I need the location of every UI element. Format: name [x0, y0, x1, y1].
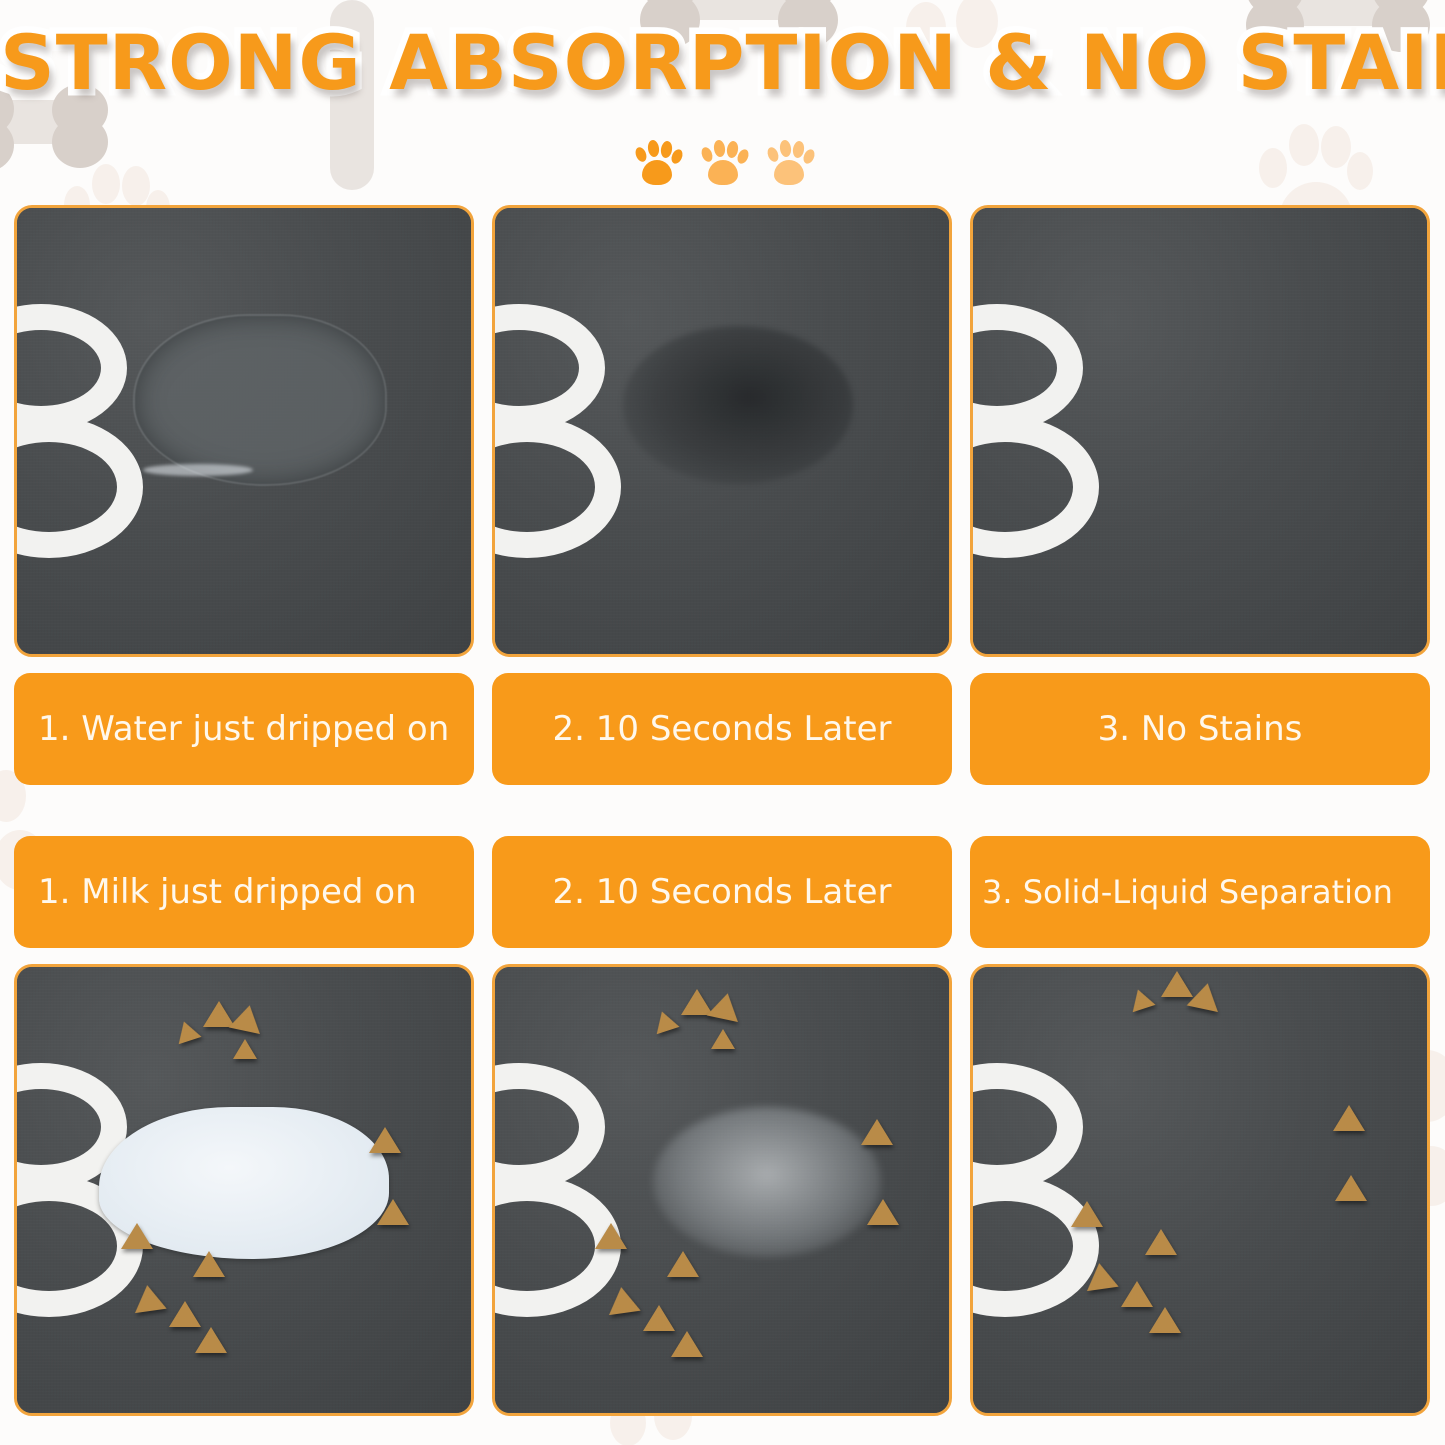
kibble-piece: [121, 1223, 153, 1249]
water-puddle: [135, 316, 385, 484]
kibble-piece: [131, 1283, 166, 1313]
milk-demo-row: 1. Milk just dripped on 2. 10 Seconds La…: [14, 836, 1431, 1416]
water-dripped-photo: [14, 205, 474, 657]
kibble-piece: [1071, 1201, 1103, 1227]
caption-water-step-1: 1. Water just dripped on: [14, 673, 474, 785]
kibble-piece: [595, 1223, 627, 1249]
demo-cell: 2. 10 Seconds Later: [492, 205, 952, 785]
kibble-piece: [195, 1327, 227, 1353]
milk-separated-photo: [970, 964, 1430, 1416]
water-absorbed-photo: [492, 205, 952, 657]
kibble-piece: [369, 1127, 401, 1153]
caption-water-step-3: 3. No Stains: [970, 673, 1430, 785]
paw-print-icon: [700, 138, 746, 188]
kibble-piece: [861, 1119, 893, 1145]
water-demo-row: 1. Water just dripped on 2. 10 Seconds L…: [14, 205, 1431, 785]
kibble-piece: [1083, 1261, 1118, 1291]
caption-milk-step-3: 3. Solid-Liquid Separation: [970, 836, 1430, 948]
kibble-piece: [169, 1301, 201, 1327]
paw-print-icon: [634, 138, 680, 188]
infographic-page: STRONG ABSORPTION & NO STAINS 1. Water j…: [0, 0, 1445, 1445]
kibble-piece: [1333, 1105, 1365, 1131]
kibble-piece: [711, 1029, 735, 1049]
page-title: STRONG ABSORPTION & NO STAINS: [0, 18, 1445, 107]
title-block: STRONG ABSORPTION & NO STAINS: [0, 18, 1445, 107]
kibble-piece: [1121, 1281, 1153, 1307]
kibble-piece: [1145, 1229, 1177, 1255]
paw-divider: [0, 138, 1445, 188]
absorbed-milk-patch: [653, 1107, 881, 1257]
kibble-piece: [643, 1305, 675, 1331]
milk-dripped-photo: [14, 964, 474, 1416]
kibble-piece: [605, 1285, 640, 1315]
kibble-piece: [233, 1039, 257, 1059]
kibble-piece: [1335, 1175, 1367, 1201]
demo-cell: 1. Milk just dripped on: [14, 836, 474, 1416]
kibble-piece: [193, 1251, 225, 1277]
demo-cell: 3. No Stains: [970, 205, 1430, 785]
caption-milk-step-1: 1. Milk just dripped on: [14, 836, 474, 948]
demo-cell: 2. 10 Seconds Later: [492, 836, 952, 1416]
water-no-stains-photo: [970, 205, 1430, 657]
caption-water-step-2: 2. 10 Seconds Later: [492, 673, 952, 785]
paw-print-icon: [766, 138, 812, 188]
mat-logo: [970, 304, 1111, 594]
milk-absorbed-photo: [492, 964, 952, 1416]
kibble-piece: [667, 1251, 699, 1277]
absorbed-water-patch: [623, 326, 853, 484]
demo-cell: 1. Water just dripped on: [14, 205, 474, 785]
demo-cell: 3. Solid-Liquid Separation: [970, 836, 1430, 1416]
kibble-piece: [671, 1331, 703, 1357]
mat-logo: [14, 304, 155, 594]
kibble-piece: [1149, 1307, 1181, 1333]
caption-milk-step-2: 2. 10 Seconds Later: [492, 836, 952, 948]
mat-logo: [492, 304, 633, 594]
kibble-piece: [867, 1199, 899, 1225]
kibble-piece: [377, 1199, 409, 1225]
